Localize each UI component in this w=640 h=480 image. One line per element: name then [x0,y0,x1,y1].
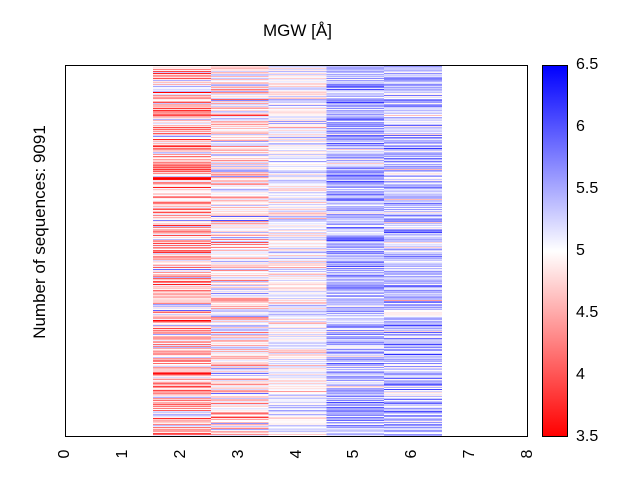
colorbar-tick-label: 6.5 [576,56,598,74]
x-axis-tick-label: 6 [403,442,421,466]
x-axis-tick-label: 2 [172,442,190,466]
plot-area [65,65,528,437]
x-axis-tick-label: 8 [519,442,537,466]
x-axis-tick-label: 1 [114,442,132,466]
colorbar-tick-label: 5.5 [576,180,598,198]
page-title: MGW [Å] [0,21,595,41]
x-axis-tick-label: 4 [288,442,306,466]
heatmap-canvas [153,66,442,437]
colorbar-tick-label: 4.5 [576,304,598,322]
colorbar-tick-label: 5 [576,242,585,260]
colorbar [542,65,568,437]
x-axis: 012345678 [65,437,528,480]
colorbar-gradient [542,65,568,437]
y-axis-label-container: Number of sequences: 9091 [0,0,40,480]
colorbar-tick-label: 3.5 [576,428,598,446]
colorbar-tick-label: 6 [576,118,585,136]
y-axis-label: Number of sequences: 9091 [30,82,50,382]
heatmap-image [66,66,527,436]
colorbar-tick-label: 4 [576,366,585,384]
x-axis-tick-label: 5 [345,442,363,466]
x-axis-tick-label: 3 [230,442,248,466]
x-axis-tick-label: 7 [461,442,479,466]
colorbar-tick-labels: 6.565.554.543.5 [572,65,638,437]
x-axis-tick-label: 0 [56,442,74,466]
